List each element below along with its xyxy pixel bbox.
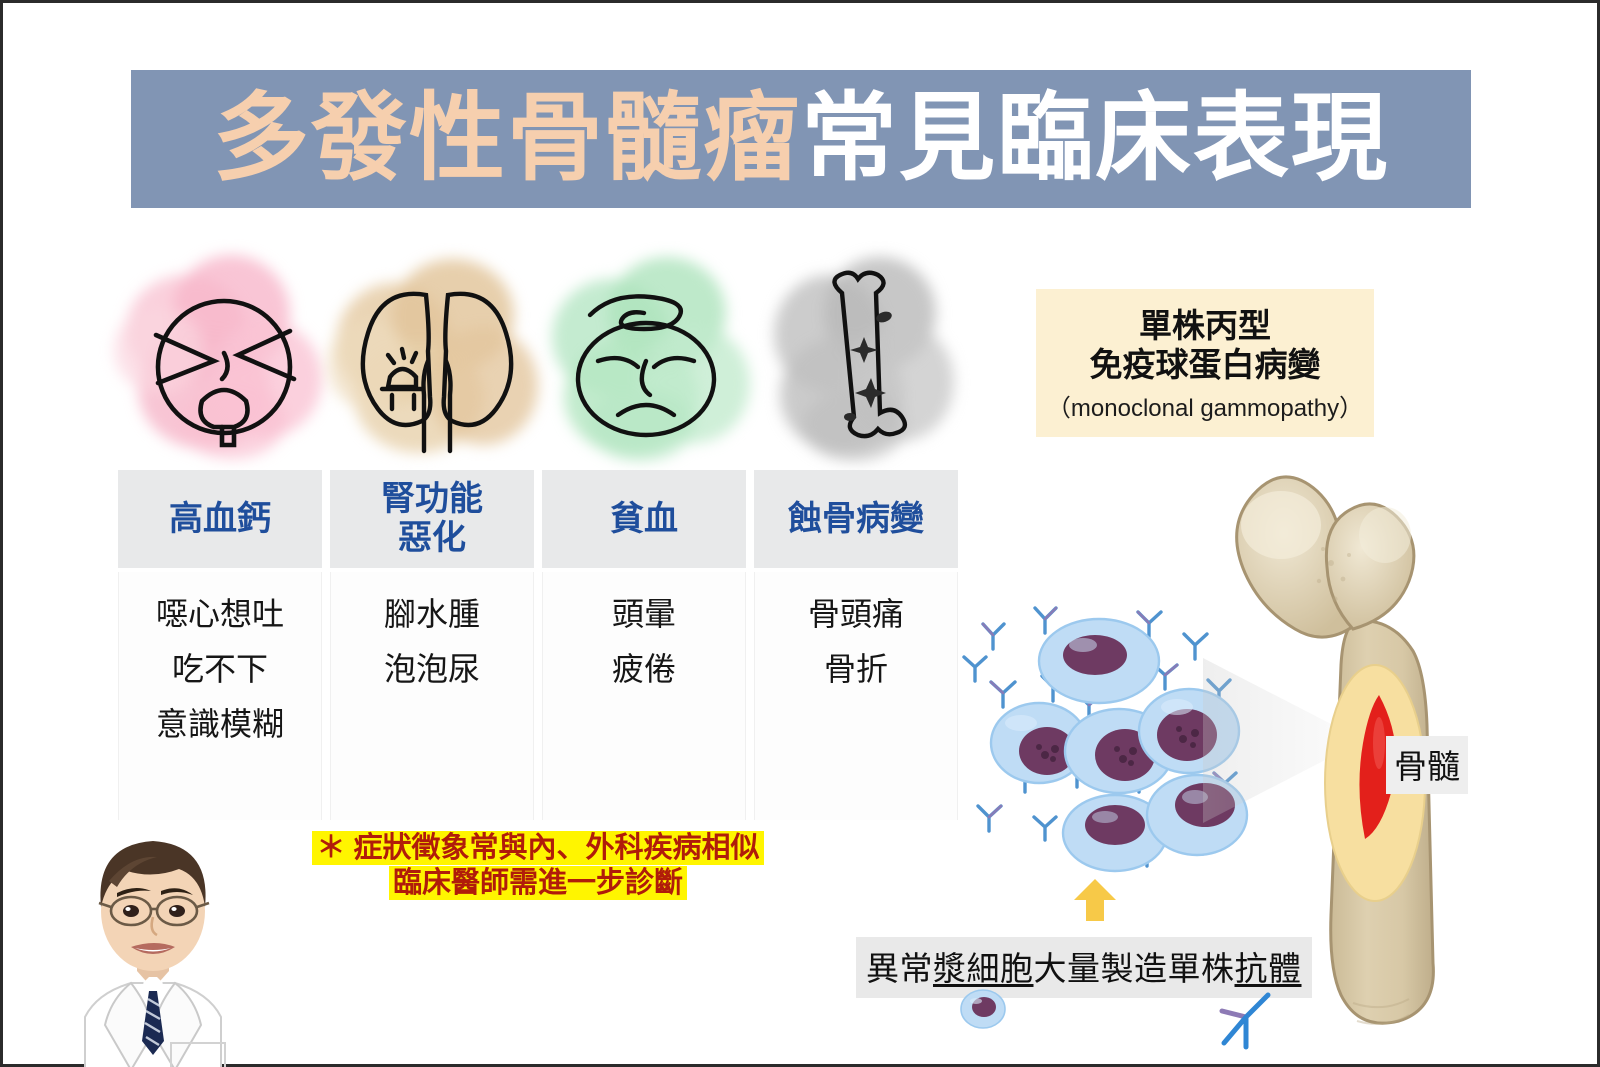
list-item: 泡泡尿	[384, 653, 480, 685]
kidney-alarm-icon	[330, 249, 542, 461]
title-highlight-text: 多發性骨髓瘤	[213, 91, 801, 187]
list-item: 骨頭痛	[808, 598, 904, 630]
symptom-table: 高血鈣 腎功能惡化 貧血 蝕骨病變 噁心想吐 吃不下 意識模糊 腳水腫 泡泡尿	[118, 470, 958, 820]
warning-line-2: 臨床醫師需進一步診斷	[389, 866, 687, 900]
nauseated-face-icon	[118, 249, 330, 461]
list-item: 骨折	[824, 653, 888, 685]
monoclonal-gammopathy-box: 單株丙型 免疫球蛋白病變 （monoclonal gammopathy）	[1036, 289, 1374, 437]
mono-line-2: 免疫球蛋白病變	[1090, 346, 1321, 385]
list-item: 意識模糊	[156, 708, 284, 740]
page-title: 多發性骨髓瘤 常見臨床表現	[131, 70, 1471, 208]
kidney-sketch	[330, 249, 542, 461]
up-arrow-icon	[1071, 876, 1119, 924]
antibody-legend-icon	[1208, 981, 1284, 1057]
renal-line2: 惡化	[398, 519, 466, 557]
mono-line-3-english: （monoclonal gammopathy）	[1047, 388, 1363, 423]
table-header-hypercalcemia: 高血鈣	[118, 470, 322, 568]
list-item: 吃不下	[172, 653, 268, 685]
table-cell-bone-lesion: 骨頭痛 骨折	[754, 572, 958, 820]
nausea-sketch	[118, 249, 330, 461]
table-header-row: 高血鈣 腎功能惡化 貧血 蝕骨病變	[118, 470, 958, 568]
list-item: 噁心想吐	[156, 598, 284, 630]
table-cell-anemia: 頭暈 疲倦	[542, 572, 746, 820]
slide-canvas: 多發性骨髓瘤 常見臨床表現	[0, 0, 1600, 1067]
table-cell-renal: 腳水腫 泡泡尿	[330, 572, 534, 820]
bone-sketch	[754, 249, 966, 461]
table-header-anemia: 貧血	[542, 470, 746, 568]
doctor-portrait	[25, 785, 325, 1067]
dizzy-sketch	[542, 249, 754, 461]
caption-part-2: 大量製造單株	[1034, 950, 1235, 987]
marrow-label: 骨髓	[1386, 736, 1468, 794]
table-body-row: 噁心想吐 吃不下 意識模糊 腳水腫 泡泡尿 頭暈 疲倦 骨頭痛 骨折	[118, 572, 958, 820]
table-header-bone-lesion: 蝕骨病變	[754, 470, 958, 568]
table-cell-hypercalcemia: 噁心想吐 吃不下 意識模糊	[118, 572, 322, 820]
list-item: 頭暈	[612, 598, 676, 630]
mono-line-1: 單株丙型	[1139, 307, 1271, 346]
dizzy-sad-face-icon	[542, 249, 754, 461]
lytic-bone-icon	[754, 249, 966, 461]
renal-line1: 腎功能	[381, 480, 483, 518]
table-header-renal: 腎功能惡化	[330, 470, 534, 568]
plasma-cell-legend-icon	[958, 988, 1008, 1030]
caption-underline-plasma-cell: 漿細胞	[933, 950, 1034, 987]
title-rest-text: 常見臨床表現	[801, 91, 1389, 187]
caption-part-1: 異常	[866, 950, 933, 987]
list-item: 疲倦	[612, 653, 676, 685]
list-item: 腳水腫	[384, 598, 480, 630]
warning-line-1: ＊ 症狀徵象常與內、外科疾病相似	[312, 831, 763, 865]
